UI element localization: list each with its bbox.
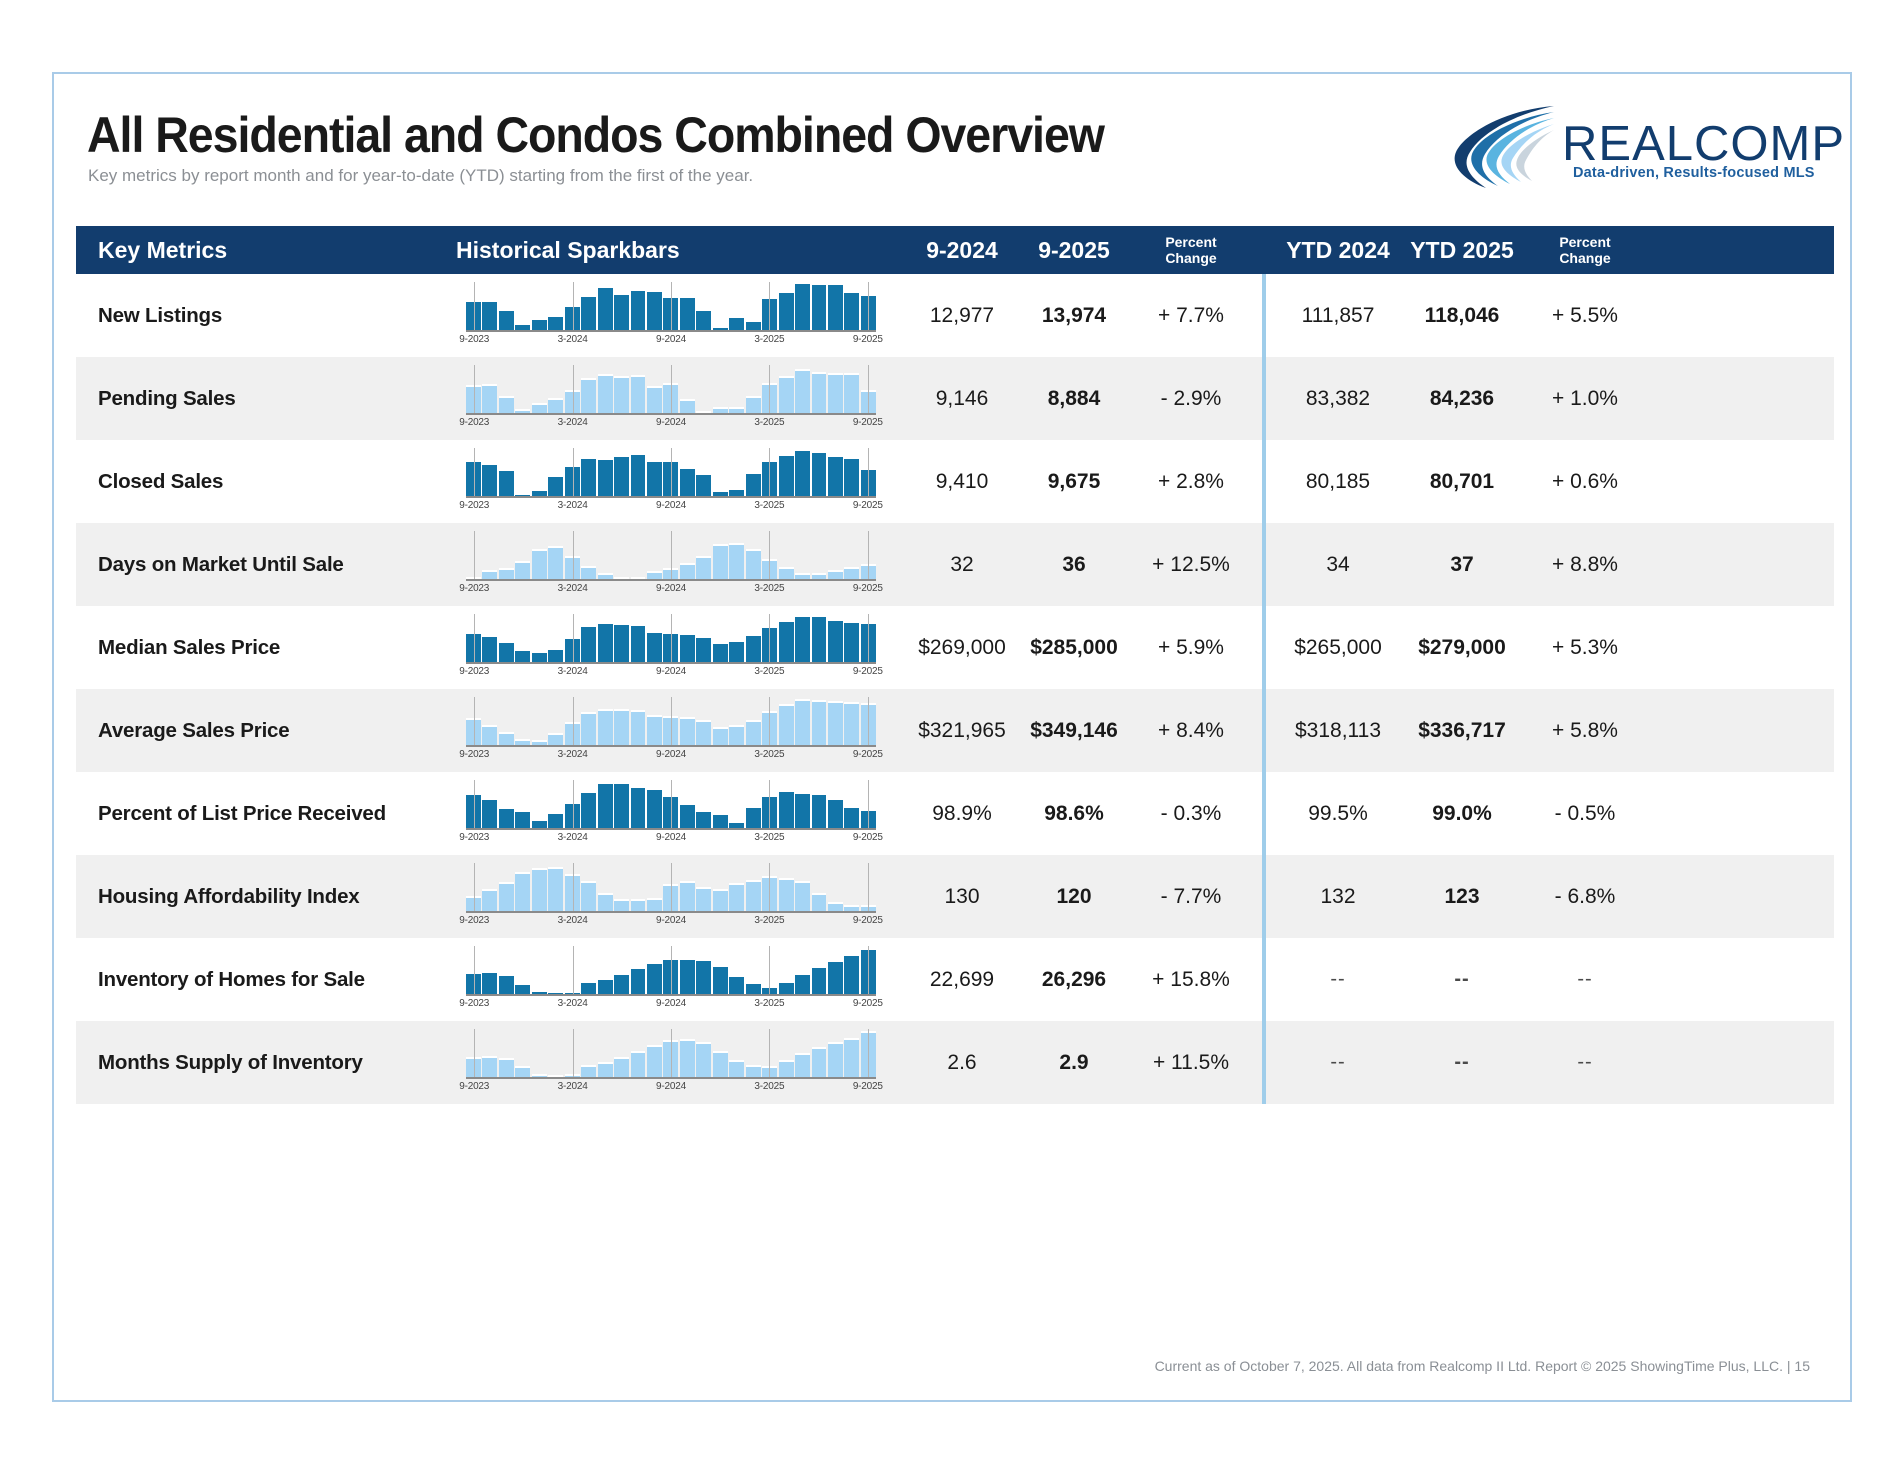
ytd-divider [1262,357,1266,440]
sparkbar-bar [746,880,761,911]
ytd-prev-cell: 80,185 [1276,440,1400,523]
sparkbar-bar [499,1058,514,1077]
pct-change-month-cell-value: - 2.9% [1161,387,1222,411]
sparkbar-bar [779,1060,794,1077]
month-curr-cell: 26,296 [1018,938,1130,1021]
sparkbar-bar [614,623,629,662]
sparkbar-gridline [474,1029,475,1077]
sparkbar-bar [696,636,711,662]
sparkbar-bar [729,316,744,330]
sparkbar-bar [598,1062,613,1077]
sparkbar-gridline [474,863,475,911]
ytd-curr-cell: 37 [1400,523,1524,606]
sparkbar-tick-label: 3-2025 [754,500,784,511]
metric-label: Average Sales Price [76,719,289,743]
sparkbar-bar [844,702,859,745]
month-curr-cell: 8,884 [1018,357,1130,440]
sparkbar-bar [812,451,827,496]
sparkbar-bar [581,378,596,413]
sparkbar-axis [466,828,876,830]
metric-cell: Pending Sales [76,357,456,440]
sparkbar-tick-label: 3-2025 [754,417,784,428]
sparkbar-tick-label: 9-2023 [459,749,489,760]
report-footer: Current as of October 7, 2025. All data … [1155,1358,1810,1374]
sparkbar-bar [647,715,662,745]
sparkbar-bar [482,725,497,745]
logo-wordmark: REALCOMP [1562,116,1845,172]
sparkbar-bar [581,881,596,911]
ytd-curr-cell: 99.0% [1400,772,1524,855]
sparkbar-bar [499,732,514,745]
sparkbar-gridline [769,697,770,745]
sparkbar-bar [680,717,695,745]
ytd-divider [1262,855,1266,938]
sparkbar-gridline [474,946,475,994]
sparkbar-bar [482,1056,497,1077]
sparkbar-tick-label: 9-2024 [656,1081,686,1092]
sparkbar-tick-label: 9-2024 [656,583,686,594]
ytd-curr-cell: $336,717 [1400,689,1524,772]
sparkbar-gridline [474,614,475,662]
pct-change-month-cell: + 5.9% [1130,606,1252,689]
sparkbar-bar [729,488,744,496]
sparkbar-gridline [868,614,869,662]
sparkbar-bar [598,374,613,413]
sparkbar-tick-label: 9-2025 [853,583,883,594]
ytd-divider-spacer [1252,606,1276,689]
sparkbar-bar [729,1060,744,1077]
month-prev-cell: 32 [906,523,1018,606]
column-header-key-metrics: Key Metrics [76,237,456,264]
month-curr-cell: 120 [1018,855,1130,938]
sparkbar-tick-label: 3-2024 [558,666,588,677]
metric-cell: Days on Market Until Sale [76,523,456,606]
sparkbar-bar [532,489,547,496]
sparkbar-gridline [868,863,869,911]
sparkbar-bar [680,803,695,828]
sparkbar-gridline [769,531,770,579]
ytd-divider-spacer [1252,357,1276,440]
sparkbar-axis [466,579,876,581]
sparkbar-bar [631,710,646,745]
pct-change-month-cell: + 15.8% [1130,938,1252,1021]
sparkbar-bar [647,460,662,496]
ytd-divider [1262,523,1266,606]
ytd-prev-cell-value: 132 [1320,885,1355,909]
sparkbar-gridline [474,365,475,413]
sparkbar-bar [713,727,728,745]
sparkbar-bar [581,981,596,994]
sparkbar-gridline [868,780,869,828]
pct-change-month-cell: + 7.7% [1130,274,1252,357]
sparkbar-gridline [671,863,672,911]
sparkbar-bar [614,1057,629,1077]
metric-cell: Closed Sales [76,440,456,523]
pct-change-month-cell-value: - 7.7% [1161,885,1222,909]
sparkbar-gridline [573,282,574,330]
sparkbar-bar [696,810,711,828]
sparkbar-gridline [573,614,574,662]
ytd-divider-spacer [1252,855,1276,938]
pct-change-month-cell-value: + 7.7% [1158,304,1224,328]
sparkbar-bar [680,633,695,662]
sparkbar-gridline [868,946,869,994]
pct-change-ytd-cell-value: + 5.3% [1552,636,1618,660]
sparkbar-axis [466,911,876,913]
pct-change-ytd-cell: + 5.5% [1524,274,1646,357]
pct-change-ytd-cell: + 5.8% [1524,689,1646,772]
sparkbar-bar [548,546,563,579]
sparkbar-bar [795,449,810,496]
metric-label: Inventory of Homes for Sale [76,968,365,992]
sparkbar-tick-label: 3-2024 [558,417,588,428]
ytd-curr-cell-value: 123 [1444,885,1479,909]
sparkbar-gridline [573,946,574,994]
sparkbar-gridline [671,946,672,994]
ytd-divider-spacer [1252,772,1276,855]
month-prev-cell-value: 9,146 [936,387,989,411]
sparkbar-bar [499,469,514,496]
sparkbar-tick-label: 9-2024 [656,832,686,843]
ytd-divider-spacer [1252,523,1276,606]
sparkbar-gridline [573,780,574,828]
column-header-sparkbars: Historical Sparkbars [456,237,906,264]
ytd-prev-cell-value: 111,857 [1302,304,1375,328]
sparkbar-chart: 9-20233-20249-20243-20259-2025 [466,531,876,587]
sparkbar-tick-label: 9-2024 [656,749,686,760]
sparkbar-tick-label: 3-2025 [754,832,784,843]
sparkbar-gridline [573,1029,574,1077]
metric-label: Closed Sales [76,470,223,494]
sparkbar-gridline [573,365,574,413]
sparkbar-bar [482,798,497,828]
sparkbar-bar [779,704,794,745]
ytd-prev-cell: -- [1276,938,1400,1021]
pct-change-ytd-line2: Change [1559,250,1610,266]
sparkbar-bar [696,556,711,579]
sparkbar-tick-labels: 9-20233-20249-20243-20259-2025 [466,417,876,433]
month-prev-cell: 9,410 [906,440,1018,523]
sparkbar-bar [746,806,761,828]
metrics-table: Key Metrics Historical Sparkbars 9-2024 … [76,226,1834,1104]
ytd-curr-cell-value: -- [1454,1051,1469,1074]
sparkbar-bar [515,810,530,828]
pct-change-ytd-cell: + 0.6% [1524,440,1646,523]
month-prev-cell-value: $321,965 [918,719,1006,743]
sparkbar-chart: 9-20233-20249-20243-20259-2025 [466,614,876,670]
sparkbar-bar [515,872,530,911]
ytd-prev-cell-value: -- [1330,968,1345,991]
sparkbar-bar [515,649,530,662]
sparkbar-tick-label: 9-2025 [853,417,883,428]
table-row: Housing Affordability Index9-20233-20249… [76,855,1834,938]
metric-label: New Listings [76,304,222,328]
sparkbar-gridline [769,614,770,662]
sparkbar-bar [482,570,497,579]
sparkbar-tick-label: 9-2024 [656,998,686,1009]
sparkbar-cell: 9-20233-20249-20243-20259-2025 [456,440,906,523]
month-curr-cell-value: 2.9 [1059,1051,1088,1075]
sparkbar-bar [844,1038,859,1077]
month-prev-cell: 2.6 [906,1021,1018,1104]
sparkbar-tick-label: 9-2023 [459,998,489,1009]
ytd-prev-cell: $318,113 [1276,689,1400,772]
sparkbar-gridline [573,697,574,745]
sparkbar-tick-labels: 9-20233-20249-20243-20259-2025 [466,1081,876,1097]
sparkbar-bar [828,960,843,994]
sparkbar-tick-label: 3-2024 [558,832,588,843]
metric-label: Housing Affordability Index [76,885,359,909]
logo-swoosh-icon [1442,104,1562,190]
ytd-curr-cell: -- [1400,1021,1524,1104]
sparkbar-bar [532,318,547,330]
sparkbar-bar [812,615,827,662]
sparkbar-bar [746,472,761,496]
sparkbar-tick-label: 9-2024 [656,915,686,926]
sparkbar-bar [499,309,514,330]
sparkbar-bar [482,971,497,994]
metric-cell: Average Sales Price [76,689,456,772]
sparkbar-bar [499,807,514,828]
ytd-prev-cell-value: 83,382 [1306,387,1370,411]
pct-change-month-cell-value: + 15.8% [1152,968,1230,992]
pct-change-month-cell: + 2.8% [1130,440,1252,523]
sparkbar-gridline [868,448,869,496]
ytd-prev-cell-value: 80,185 [1306,470,1370,494]
sparkbar-bar [680,467,695,496]
sparkbar-bar [548,648,563,662]
sparkbar-axis [466,496,876,498]
sparkbar-tick-label: 3-2024 [558,334,588,345]
sparkbar-gridline [769,282,770,330]
sparkbar-bar [828,902,843,911]
sparkbar-tick-label: 9-2023 [459,500,489,511]
sparkbar-bar [631,967,646,994]
sparkbar-bar [598,978,613,994]
month-prev-cell: 9,146 [906,357,1018,440]
ytd-divider [1262,689,1266,772]
sparkbar-bar [812,700,827,745]
sparkbar-axis [466,1077,876,1079]
sparkbar-bar [515,561,530,579]
ytd-curr-cell-value: 84,236 [1430,387,1494,411]
ytd-curr-cell: 123 [1400,855,1524,938]
metric-cell: Housing Affordability Index [76,855,456,938]
sparkbar-chart: 9-20233-20249-20243-20259-2025 [466,780,876,836]
sparkbar-tick-label: 9-2025 [853,1081,883,1092]
sparkbar-bar [729,725,744,745]
sparkbar-bar [631,453,646,496]
ytd-curr-cell-value: 80,701 [1430,470,1494,494]
sparkbar-tick-label: 9-2025 [853,998,883,1009]
sparkbar-cell: 9-20233-20249-20243-20259-2025 [456,938,906,1021]
pct-change-ytd-cell: + 5.3% [1524,606,1646,689]
pct-change-ytd-cell-value: + 0.6% [1552,470,1618,494]
month-prev-cell-value: 22,699 [930,968,994,992]
table-row: New Listings9-20233-20249-20243-20259-20… [76,274,1834,357]
sparkbar-bar [713,544,728,579]
sparkbar-bar [482,463,497,496]
sparkbar-cell: 9-20233-20249-20243-20259-2025 [456,523,906,606]
ytd-divider-spacer [1252,1021,1276,1104]
sparkbar-axis [466,662,876,664]
sparkbar-bar [746,396,761,413]
sparkbar-gridline [868,1029,869,1077]
month-prev-cell-value: 12,977 [930,304,994,328]
ytd-curr-cell-value: $279,000 [1418,636,1506,660]
sparkbar-bar [598,622,613,662]
sparkbar-gridline [868,697,869,745]
month-curr-cell: 13,974 [1018,274,1130,357]
sparkbar-tick-label: 9-2025 [853,666,883,677]
sparkbar-tick-label: 9-2025 [853,334,883,345]
sparkbar-gridline [868,531,869,579]
sparkbar-tick-label: 3-2024 [558,749,588,760]
sparkbar-chart: 9-20233-20249-20243-20259-2025 [466,448,876,504]
ytd-divider [1262,772,1266,855]
sparkbar-tick-label: 3-2024 [558,915,588,926]
pct-change-month-cell: - 2.9% [1130,357,1252,440]
ytd-prev-cell: 132 [1276,855,1400,938]
pct-change-month-cell-value: + 12.5% [1152,553,1230,577]
sparkbar-tick-label: 3-2024 [558,500,588,511]
ytd-divider [1262,938,1266,1021]
sparkbar-tick-labels: 9-20233-20249-20243-20259-2025 [466,915,876,931]
month-prev-cell-value: 130 [944,885,979,909]
sparkbar-bar [532,403,547,413]
pct-change-month-cell-value: - 0.3% [1161,802,1222,826]
sparkbar-bar [581,625,596,662]
sparkbar-bar [614,455,629,496]
month-curr-cell-value: 8,884 [1048,387,1101,411]
sparkbar-tick-label: 9-2025 [853,915,883,926]
sparkbar-bar [844,373,859,413]
ytd-curr-cell: -- [1400,938,1524,1021]
sparkbar-bar [482,300,497,330]
month-curr-cell: $285,000 [1018,606,1130,689]
month-curr-cell-value: 120 [1056,885,1091,909]
sparkbar-gridline [769,780,770,828]
report-page: All Residential and Condos Combined Over… [52,72,1852,1402]
sparkbar-bar [598,782,613,828]
pct-change-ytd-cell: + 8.8% [1524,523,1646,606]
ytd-prev-cell: $265,000 [1276,606,1400,689]
sparkbar-bar [614,899,629,911]
sparkbar-gridline [573,863,574,911]
table-row: Average Sales Price9-20233-20249-20243-2… [76,689,1834,772]
sparkbar-bar [828,1042,843,1077]
table-row: Months Supply of Inventory9-20233-20249-… [76,1021,1834,1104]
sparkbar-tick-label: 9-2024 [656,666,686,677]
ytd-divider [1262,1021,1266,1104]
sparkbar-bar [696,887,711,911]
month-curr-cell: 98.6% [1018,772,1130,855]
pct-change-line2: Change [1165,250,1216,266]
sparkbar-tick-labels: 9-20233-20249-20243-20259-2025 [466,749,876,765]
sparkbar-bar [647,386,662,413]
sparkbar-bar [779,291,794,330]
ytd-divider-spacer [1252,938,1276,1021]
sparkbar-tick-labels: 9-20233-20249-20243-20259-2025 [466,500,876,516]
sparkbar-bar [713,642,728,662]
sparkbar-bar [779,454,794,496]
sparkbar-bar [812,893,827,911]
sparkbar-bar [779,790,794,828]
sparkbar-bar [631,375,646,413]
ytd-curr-cell-value: -- [1454,968,1469,991]
sparkbar-bar [696,959,711,994]
pct-change-ytd-cell-value: - 0.5% [1555,802,1616,826]
table-row: Closed Sales9-20233-20249-20243-20259-20… [76,440,1834,523]
pct-change-ytd-cell-value: - 6.8% [1555,885,1616,909]
sparkbar-axis [466,745,876,747]
metric-label: Months Supply of Inventory [76,1051,363,1075]
sparkbar-bar [746,982,761,994]
sparkbar-bar [680,1039,695,1077]
sparkbar-bar [844,291,859,330]
sparkbar-chart: 9-20233-20249-20243-20259-2025 [466,946,876,1002]
sparkbar-bar [581,1065,596,1077]
pct-change-ytd-line1: Percent [1559,234,1610,250]
sparkbar-bar [499,974,514,994]
sparkbar-bar [647,571,662,579]
sparkbar-tick-label: 3-2025 [754,1081,784,1092]
sparkbar-cell: 9-20233-20249-20243-20259-2025 [456,1021,906,1104]
sparkbar-bar [647,631,662,662]
sparkbar-bar [795,699,810,745]
ytd-curr-cell: $279,000 [1400,606,1524,689]
sparkbar-cell: 9-20233-20249-20243-20259-2025 [456,689,906,772]
sparkbar-bar [532,651,547,662]
sparkbar-bar [499,568,514,579]
sparkbar-cell: 9-20233-20249-20243-20259-2025 [456,274,906,357]
sparkbar-tick-label: 9-2023 [459,1081,489,1092]
ytd-prev-cell-value: $265,000 [1294,636,1382,660]
pct-change-ytd-cell: -- [1524,938,1646,1021]
sparkbar-bar [631,624,646,662]
sparkbar-bar [581,295,596,330]
table-row: Percent of List Price Received9-20233-20… [76,772,1834,855]
sparkbar-gridline [573,531,574,579]
sparkbar-bar [548,315,563,330]
sparkbar-bar [680,399,695,413]
sparkbar-bar [779,567,794,579]
sparkbar-bar [828,373,843,413]
sparkbar-bar [482,384,497,413]
month-curr-cell: 9,675 [1018,440,1130,523]
sparkbar-tick-label: 9-2023 [459,417,489,428]
sparkbar-bar [729,883,744,911]
sparkbar-tick-label: 9-2023 [459,832,489,843]
sparkbar-bar [696,720,711,745]
sparkbar-gridline [474,282,475,330]
sparkbar-bar [532,868,547,911]
sparkbar-bar [548,867,563,911]
sparkbar-gridline [671,697,672,745]
table-header-row: Key Metrics Historical Sparkbars 9-2024 … [76,226,1834,274]
sparkbar-bar [614,973,629,994]
metric-label: Days on Market Until Sale [76,553,344,577]
sparkbar-bar [581,457,596,496]
sparkbar-tick-label: 9-2023 [459,583,489,594]
metric-cell: Months Supply of Inventory [76,1021,456,1104]
pct-change-line1: Percent [1165,234,1216,250]
ytd-divider-spacer [1252,274,1276,357]
sparkbar-bar [680,296,695,330]
column-header-percent-change-ytd: Percent Change [1524,234,1646,266]
sparkbar-gridline [868,365,869,413]
report-header: All Residential and Condos Combined Over… [54,74,1850,224]
